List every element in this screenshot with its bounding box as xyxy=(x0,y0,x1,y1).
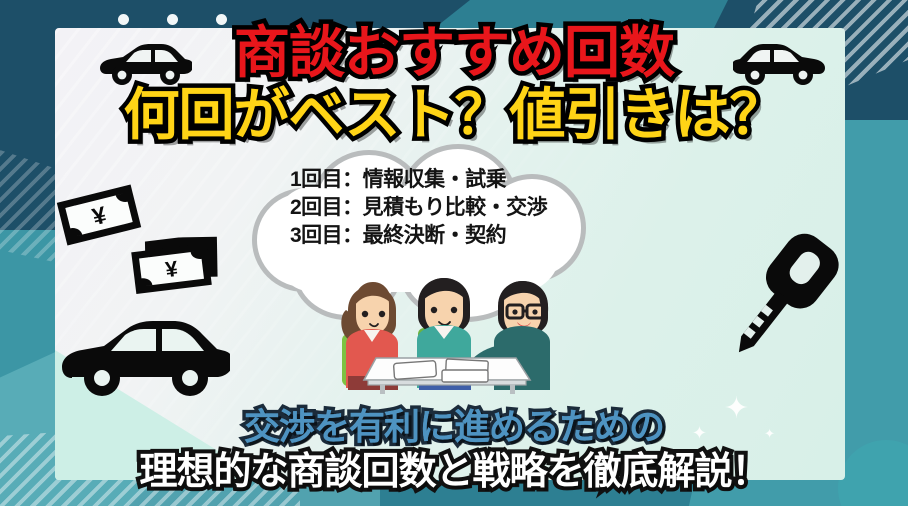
yen-banknote-icon: ¥ xyxy=(129,233,223,295)
dot-icon xyxy=(118,14,129,25)
list-item: 3回目：最終決断・契約 xyxy=(290,222,630,250)
list-item: 1回目：情報収集・試乗 xyxy=(290,166,630,194)
steps-list: 1回目：情報収集・試乗 2回目：見積もり比較・交渉 3回目：最終決断・契約 xyxy=(290,166,630,250)
car-icon xyxy=(62,312,230,400)
car-icon xyxy=(100,40,192,86)
thumbnail-canvas: ✦ ✦ ✦ xyxy=(0,0,908,506)
list-item: 2回目：見積もり比較・交渉 xyxy=(290,194,630,222)
dot-icon xyxy=(216,14,227,25)
caption-line-2: 理想的な商談回数と戦略を徹底解説！ xyxy=(0,440,908,495)
people-meeting-illustration xyxy=(318,272,570,394)
decorative-dots xyxy=(118,14,227,25)
car-icon xyxy=(733,40,825,86)
dot-icon xyxy=(167,14,178,25)
car-key-icon xyxy=(712,222,842,372)
